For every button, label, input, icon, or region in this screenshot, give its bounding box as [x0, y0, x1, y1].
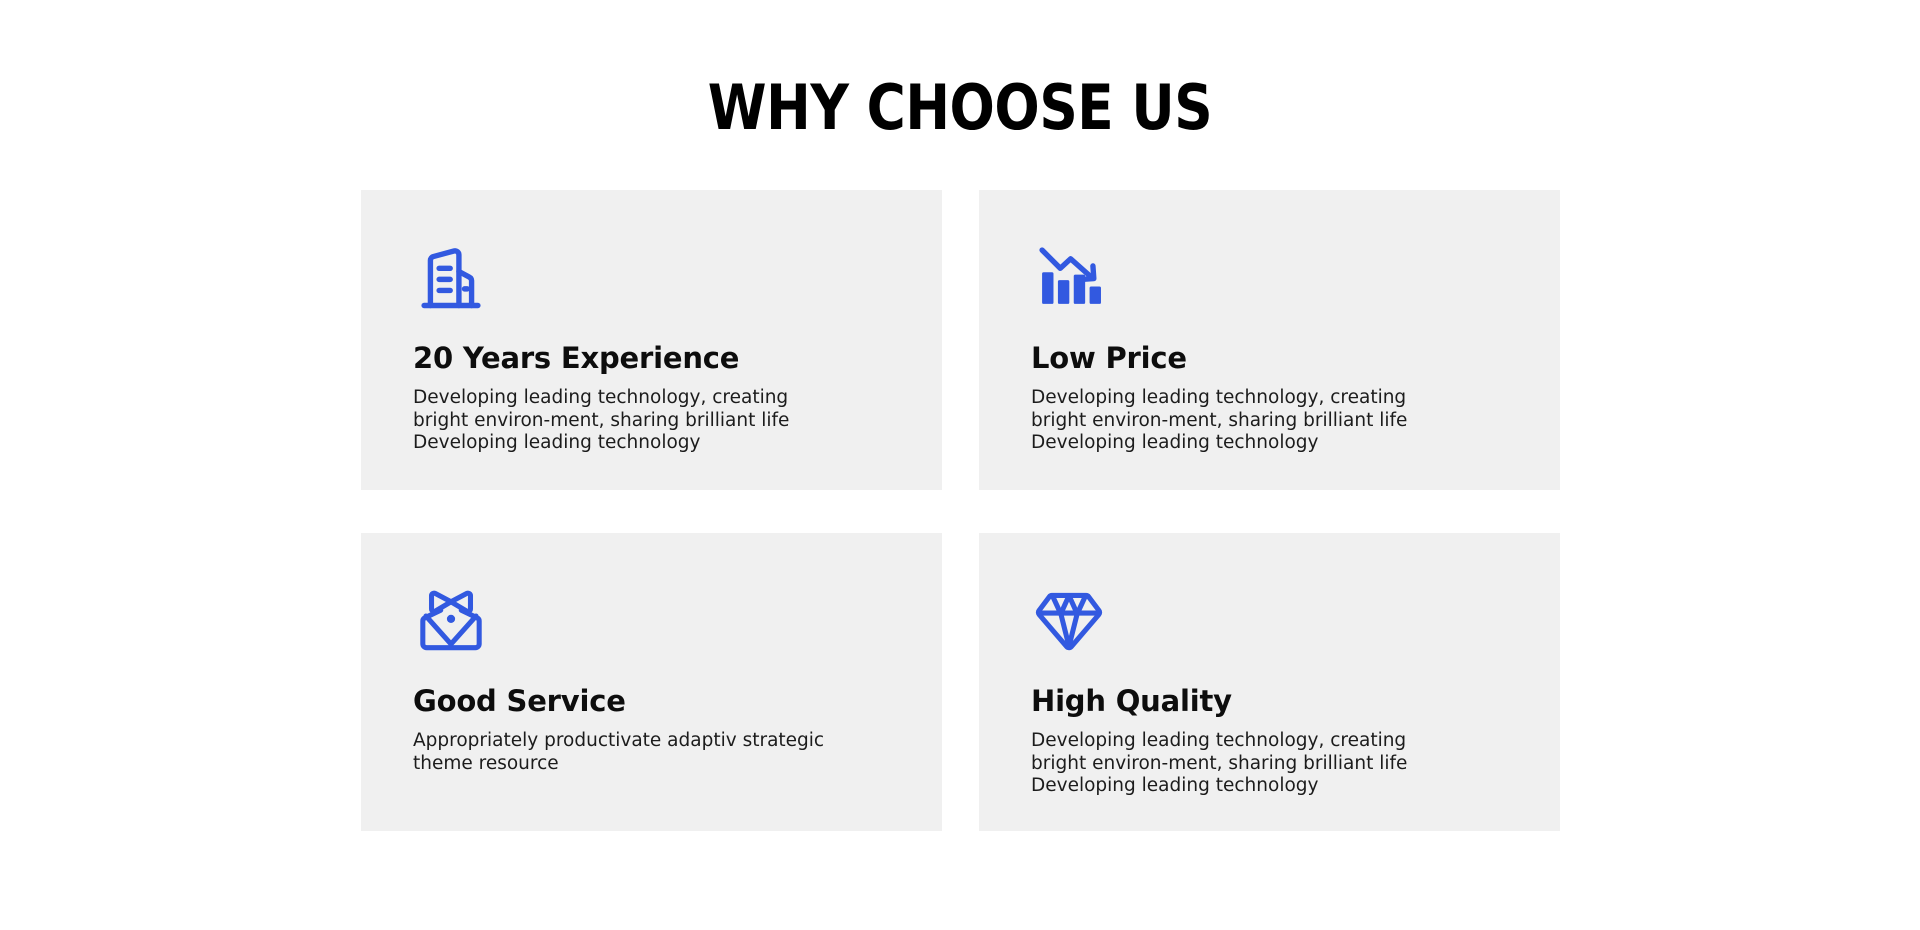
declining-bar-chart-icon	[1031, 239, 1107, 315]
feature-card-grid: 20 Years Experience Developing leading t…	[361, 190, 1560, 831]
card-description: Developing leading technology, creating …	[413, 387, 833, 455]
feature-card-low-price[interactable]: Low Price Developing leading technology,…	[979, 190, 1560, 490]
card-title: Good Service	[413, 684, 626, 718]
card-description: Appropriately productivate adaptiv strat…	[413, 730, 833, 775]
card-description: Developing leading technology, creating …	[1031, 387, 1451, 455]
feature-card-20-years-experience[interactable]: 20 Years Experience Developing leading t…	[361, 190, 942, 490]
card-title: 20 Years Experience	[413, 341, 739, 375]
bow-tie-suit-icon	[413, 582, 489, 658]
card-title: Low Price	[1031, 341, 1187, 375]
card-description: Developing leading technology, creating …	[1031, 730, 1451, 798]
why-choose-us-section: WHY CHOOSE US 20 Years Experience Develo…	[0, 0, 1920, 930]
page-title: WHY CHOOSE US	[134, 72, 1785, 144]
feature-card-good-service[interactable]: Good Service Appropriately productivate …	[361, 533, 942, 831]
feature-card-high-quality[interactable]: High Quality Developing leading technolo…	[979, 533, 1560, 831]
diamond-gem-icon	[1031, 582, 1107, 658]
office-building-icon	[413, 239, 489, 315]
card-title: High Quality	[1031, 684, 1232, 718]
